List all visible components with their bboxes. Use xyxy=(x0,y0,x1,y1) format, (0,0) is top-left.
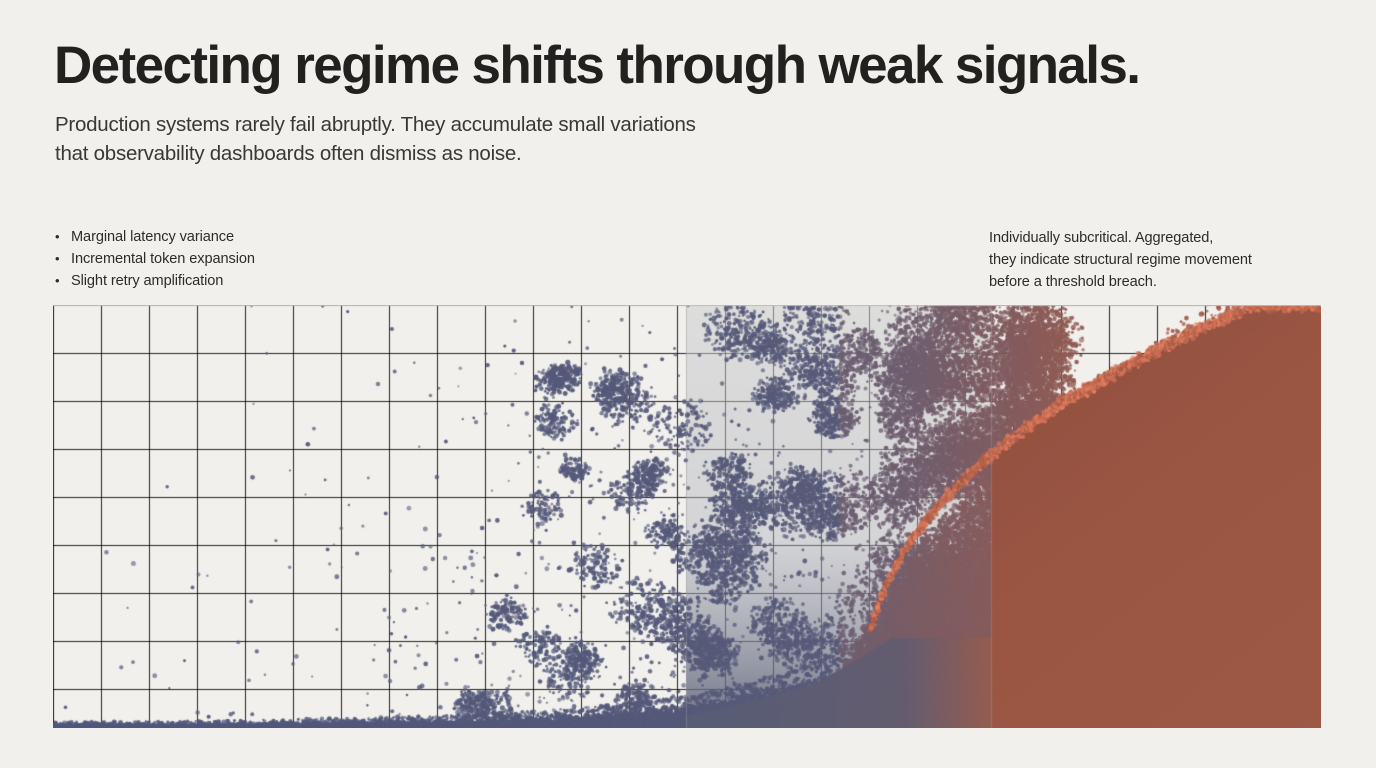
regime-shift-chart xyxy=(53,305,1321,728)
aggregation-note-line-3: before a threshold breach. xyxy=(989,271,1252,293)
list-item: • Incremental token expansion xyxy=(55,248,255,270)
aggregation-note-line-1: Individually subcritical. Aggregated, xyxy=(989,227,1252,249)
particle-density-plot xyxy=(53,305,1321,728)
list-item-label: Incremental token expansion xyxy=(71,248,255,270)
aggregation-note-line-2: they indicate structural regime movement xyxy=(989,249,1252,271)
bullet-icon: • xyxy=(55,226,71,248)
list-item: • Marginal latency variance xyxy=(55,226,255,248)
list-item-label: Marginal latency variance xyxy=(71,226,234,248)
list-item-label: Slight retry amplification xyxy=(71,270,223,292)
subtitle-line-2: that observability dashboards often dism… xyxy=(55,139,696,168)
aggregation-note: Individually subcritical. Aggregated, th… xyxy=(989,227,1252,293)
subtitle-line-1: Production systems rarely fail abruptly.… xyxy=(55,110,696,139)
page-root: Detecting regime shifts through weak sig… xyxy=(0,0,1376,768)
bullet-icon: • xyxy=(55,270,71,292)
page-subtitle: Production systems rarely fail abruptly.… xyxy=(55,110,696,168)
page-title: Detecting regime shifts through weak sig… xyxy=(54,38,1139,93)
bullet-icon: • xyxy=(55,248,71,270)
list-item: • Slight retry amplification xyxy=(55,270,255,292)
weak-signal-list: • Marginal latency variance • Incrementa… xyxy=(55,226,255,292)
